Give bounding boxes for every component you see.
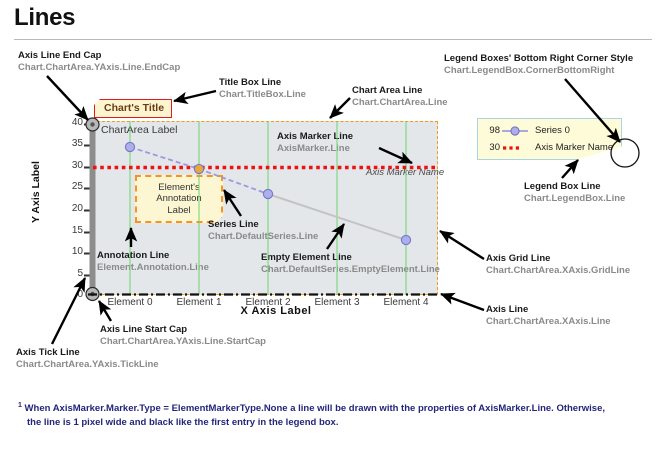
legend-key-dotted-line-icon (501, 142, 529, 154)
x-tick-element-4: Element 4 (370, 297, 442, 308)
callout-axis-line-end-cap: Axis Line End Cap Chart.ChartArea.YAxis.… (18, 50, 180, 73)
footnote-line-2: the line is 1 pixel wide and black like … (18, 416, 648, 430)
callout-annotation-line: Annotation Line Element.Annotation.Line (97, 250, 209, 273)
legend-entry-axis-marker[interactable]: 30 Axis Marker Name (485, 139, 621, 156)
y-axis-tick-lines (84, 125, 92, 276)
y-tick-15: 15 (57, 225, 83, 236)
callout-title-box-line: Title Box Line Chart.TitleBox.Line (219, 77, 306, 100)
callout-axis-line: Axis Line Chart.ChartArea.XAxis.Line (486, 304, 611, 327)
legend-value-1: 30 (485, 142, 500, 153)
y-axis-label: Y Axis Label (30, 152, 42, 232)
legend-box[interactable]: 98 Series 0 30 Axis Marker Name (477, 118, 622, 160)
callout-legend-corner-style: Legend Boxes' Bottom Right Corner Style … (444, 53, 633, 76)
y-tick-30: 30 (57, 160, 83, 171)
arrow-axis-grid-line (440, 231, 484, 259)
x-tick-element-0: Element 0 (94, 297, 166, 308)
footnote-marker: 1 (18, 402, 22, 409)
y-tick-35: 35 (57, 138, 83, 149)
legend-label-1: Axis Marker Name (535, 142, 613, 153)
y-tick-5: 5 (57, 268, 83, 279)
footnote-line-1: When AxisMarker.Marker.Type = ElementMar… (25, 403, 605, 414)
legend-label-0: Series 0 (535, 125, 570, 136)
arrow-title-box-line (174, 91, 216, 101)
y-tick-25: 25 (57, 181, 83, 192)
legend-key-line-marker-icon (501, 125, 529, 137)
y-tick-40: 40 (57, 117, 83, 128)
legend-value-0: 98 (485, 125, 500, 136)
chart-area-label: ChartArea Label (101, 124, 177, 136)
arrow-axis-line-cb (441, 294, 484, 310)
y-tick-10: 10 (57, 246, 83, 257)
chart-title-box: Chart's Title (94, 99, 172, 118)
header-divider (14, 39, 652, 40)
y-tick-0: 0 (57, 289, 83, 300)
callout-axis-grid-line: Axis Grid Line Chart.ChartArea.XAxis.Gri… (486, 253, 630, 276)
y-tick-20: 20 (57, 203, 83, 214)
callout-empty-element-line: Empty Element Line Chart.DefaultSeries.E… (261, 252, 440, 275)
callout-axis-line-start-cap: Axis Line Start Cap Chart.ChartArea.YAxi… (100, 324, 266, 347)
arrow-chart-area-line (330, 98, 350, 118)
callout-axis-tick-line: Axis Tick Line Chart.ChartArea.YAxis.Tic… (16, 347, 159, 370)
callout-series-line: Series Line Chart.DefaultSeries.Line (208, 219, 318, 242)
callout-chart-area-line: Chart Area Line Chart.ChartArea.Line (352, 85, 448, 108)
element-annotation-box: Element's Annotation Label (135, 175, 223, 223)
footnote: 1 When AxisMarker.Marker.Type = ElementM… (18, 399, 648, 430)
callout-legend-box-line: Legend Box Line Chart.LegendBox.Line (524, 181, 625, 204)
legend-entry-series-0[interactable]: 98 Series 0 (485, 122, 621, 139)
x-axis-label: X Axis Label (196, 305, 356, 317)
axis-marker-name-label: Axis Marker Name (366, 167, 444, 178)
annotation-line-3: Label (156, 205, 201, 217)
callout-axis-marker-line: Axis Marker Line AxisMarker.Line (277, 131, 353, 154)
arrow-legend-box-line (562, 160, 578, 178)
annotation-line-1: Element's (156, 182, 201, 194)
annotation-line-2: Annotation (156, 193, 201, 205)
